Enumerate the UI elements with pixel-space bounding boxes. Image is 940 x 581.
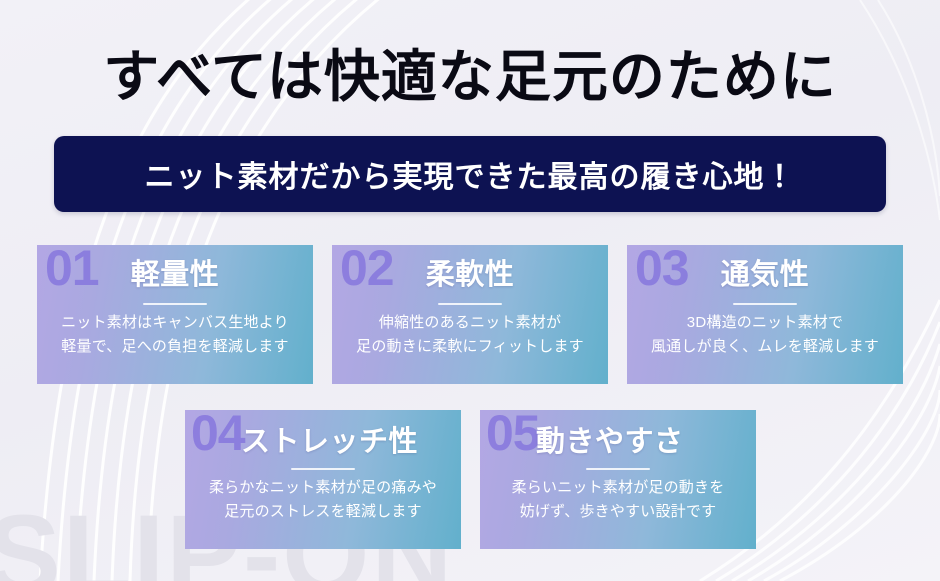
feature-card-03-body: 3D構造のニット素材で 風通しが良く、ムレを軽減します (627, 311, 903, 359)
infographic-canvas: SLIP-ON すべては快適な足元のために ニット素材だから実現できた最高の履き… (0, 0, 940, 581)
feature-card-05-number: 05 (486, 410, 540, 458)
feature-card-02-body-line2: 足の動きに柔軟にフィットします (342, 335, 598, 359)
feature-card-03-body-line2: 風通しが良く、ムレを軽減します (637, 335, 893, 359)
feature-card-04-body-line1: 柔らかなニット素材が足の痛みや (195, 476, 451, 500)
feature-card-01-body-line2: 軽量で、足への負担を軽減します (47, 335, 303, 359)
feature-card-01-title: 軽量性 (37, 251, 313, 293)
feature-card-05-body-line2: 妨げず、歩きやすい設計です (490, 500, 746, 524)
feature-card-05-divider (586, 468, 650, 470)
feature-card-04: 04 ストレッチ性 柔らかなニット素材が足の痛みや 足元のストレスを軽減します (185, 410, 461, 549)
feature-card-01-body: ニット素材はキャンバス生地より 軽量で、足への負担を軽減します (37, 311, 313, 359)
feature-card-01-divider (143, 303, 207, 305)
feature-card-04-body-line2: 足元のストレスを軽減します (195, 500, 451, 524)
feature-card-03-divider (733, 303, 797, 305)
feature-card-04-divider (291, 468, 355, 470)
feature-card-04-body: 柔らかなニット素材が足の痛みや 足元のストレスを軽減します (185, 476, 461, 524)
feature-card-04-header: 04 ストレッチ性 (185, 410, 461, 465)
feature-card-01: 01 軽量性 ニット素材はキャンバス生地より 軽量で、足への負担を軽減します (37, 245, 313, 384)
feature-card-05-title: 動きやすさ (536, 418, 684, 460)
feature-card-05-body-line1: 柔らいニット素材が足の動きを (490, 476, 746, 500)
page-title: すべては快適な足元のために (0, 46, 940, 108)
feature-card-03-title: 通気性 (627, 251, 903, 293)
headline-banner-text: ニット素材だから実現できた最高の履き心地！ (145, 152, 796, 196)
feature-card-03-header: 03 通気性 (627, 245, 903, 300)
feature-card-05-body: 柔らいニット素材が足の動きを 妨げず、歩きやすい設計です (480, 476, 756, 524)
feature-card-02: 02 柔軟性 伸縮性のあるニット素材が 足の動きに柔軟にフィットします (332, 245, 608, 384)
feature-card-05-header: 05 動きやすさ (480, 410, 756, 465)
feature-card-02-body: 伸縮性のあるニット素材が 足の動きに柔軟にフィットします (332, 311, 608, 359)
feature-card-04-number: 04 (191, 410, 245, 458)
headline-banner: ニット素材だから実現できた最高の履き心地！ (54, 136, 886, 212)
feature-card-02-header: 02 柔軟性 (332, 245, 608, 300)
feature-card-01-header: 01 軽量性 (37, 245, 313, 300)
feature-card-01-body-line1: ニット素材はキャンバス生地より (47, 311, 303, 335)
feature-card-02-divider (438, 303, 502, 305)
feature-card-02-body-line1: 伸縮性のあるニット素材が (342, 311, 598, 335)
feature-card-03-body-line1: 3D構造のニット素材で (637, 311, 893, 335)
feature-card-04-title: ストレッチ性 (241, 418, 418, 460)
feature-card-02-title: 柔軟性 (332, 251, 608, 293)
feature-card-05: 05 動きやすさ 柔らいニット素材が足の動きを 妨げず、歩きやすい設計です (480, 410, 756, 549)
feature-card-03: 03 通気性 3D構造のニット素材で 風通しが良く、ムレを軽減します (627, 245, 903, 384)
